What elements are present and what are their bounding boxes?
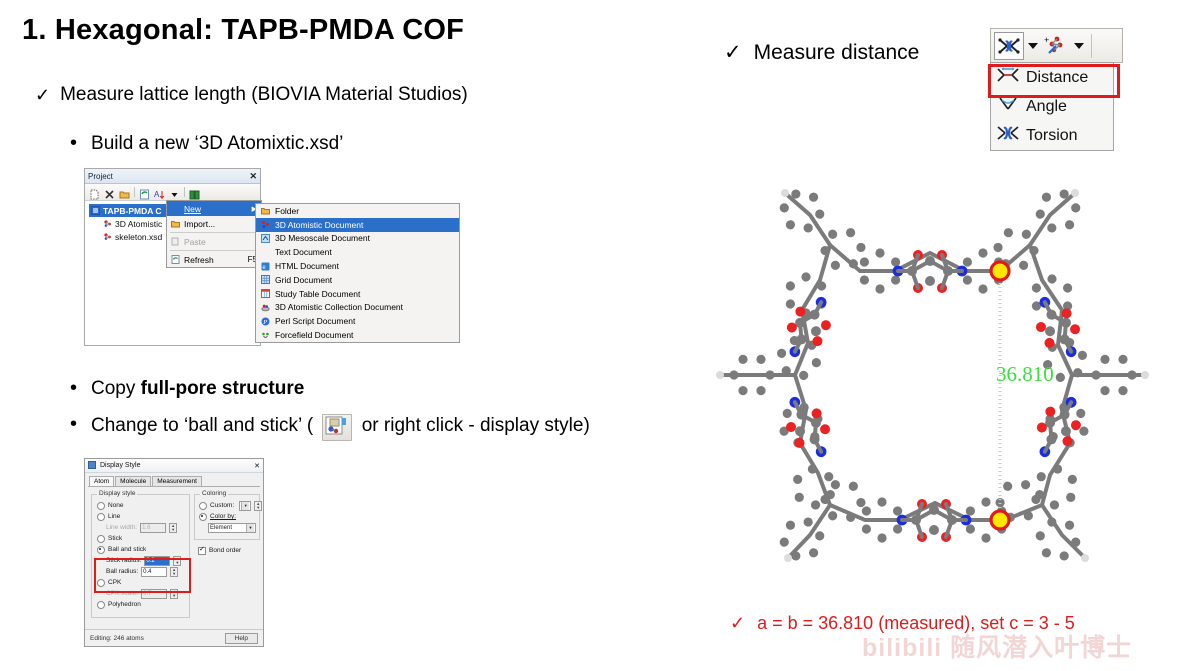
submenu-item-study-table-document[interactable]: Study Table Document: [256, 287, 459, 301]
forcefield-doc-icon: [261, 331, 270, 340]
display-style-group: Display style None Line Line width: 1.6 …: [91, 494, 190, 618]
measure-dropdown-caret-icon[interactable]: [1026, 33, 1040, 59]
check-icon: ✓: [724, 40, 742, 65]
pmda-core-lower-right: [1026, 389, 1092, 466]
radio-icon: [97, 601, 105, 609]
add-atoms-tool-icon[interactable]: +: [1042, 33, 1070, 59]
measurement-value-label: 36.810: [996, 362, 1054, 387]
ball-and-stick-highlight-box: [94, 558, 191, 593]
checkbox-icon: [198, 547, 206, 555]
submenu-item-3d-atomistic-document-label: 3D Atomistic Document: [275, 220, 363, 230]
bullet-measure-distance: ✓ Measure distance: [724, 40, 919, 65]
submenu-item-folder-label: Folder: [275, 206, 299, 216]
html-doc-icon: e: [261, 262, 270, 271]
cof-hexagonal-ring: [716, 181, 1149, 570]
line-width-stepper: ▲▼: [169, 523, 177, 533]
context-menu-item-new[interactable]: New ▶: [167, 201, 261, 216]
display-style-glyph: [323, 415, 349, 438]
radio-icon: [97, 513, 105, 521]
radio-icon: [97, 535, 105, 543]
submenu-item-study-table-document-label: Study Table Document: [275, 289, 360, 299]
display-style-tabs[interactable]: Atom Molecule Measurement: [85, 473, 263, 486]
refresh-icon: [171, 255, 180, 264]
submenu-item-3d-mesoscale-document-label: 3D Mesoscale Document: [275, 233, 370, 243]
svg-text:A: A: [154, 190, 160, 199]
display-style-toolbar-icon[interactable]: [322, 414, 352, 441]
bullet-change-suffix: or right click - display style): [356, 415, 589, 436]
measure-distance-tool-icon[interactable]: [994, 32, 1024, 60]
coloring-group: Coloring Custom: ▼ ▲▼ Color by: Element …: [194, 494, 260, 540]
display-style-body: Display style None Line Line width: 1.6 …: [88, 486, 260, 635]
submenu-item-text-document-label: Text Document: [275, 247, 332, 257]
context-menu-item-import[interactable]: Import...: [167, 216, 261, 231]
context-menu-item-refresh-label: Refresh: [184, 255, 214, 265]
watermark: bilibili 随风潜入叶博士: [862, 628, 1132, 664]
project-root-icon: [91, 206, 100, 215]
tree-item-root-label: TAPB-PMDA C: [103, 206, 162, 216]
line-width-label: Line width:: [106, 524, 137, 531]
custom-color-combo[interactable]: ▼: [239, 501, 251, 511]
line-width-input: 1.6: [140, 523, 166, 533]
submenu-item-3d-atomistic-collection-document-label: 3D Atomistic Collection Document: [275, 302, 403, 312]
page-title: 1. Hexagonal: TAPB-PMDA COF: [22, 14, 464, 47]
submenu-item-3d-atomistic-collection-document[interactable]: 3D Atomistic Collection Document: [256, 301, 459, 315]
chevron-down-icon: ▼: [246, 524, 254, 532]
submenu-item-3d-atomistic-document[interactable]: 3D Atomistic Document: [256, 218, 459, 232]
radio-line[interactable]: Line: [97, 511, 185, 522]
radio-none[interactable]: None: [97, 500, 185, 511]
menu-divider: [170, 250, 258, 251]
tab-measurement[interactable]: Measurement: [152, 476, 202, 486]
bond-order-label: Bond order: [209, 547, 241, 554]
measure-menu-item-angle-label: Angle: [1026, 98, 1067, 116]
radio-ball-and-stick-label: Ball and stick: [108, 546, 146, 553]
angle-icon: [997, 95, 1019, 118]
coloring-group-caption: Coloring: [200, 490, 228, 497]
custom-color-stepper[interactable]: ▲▼: [254, 501, 262, 511]
display-style-titlebar: Display Style ✕: [85, 459, 263, 473]
radio-polyhedron-label: Polyhedron: [108, 601, 141, 608]
import-icon: [171, 219, 180, 228]
blank-icon: [171, 204, 180, 213]
pmda-core-bottom: [897, 499, 972, 542]
submenu-item-3d-mesoscale-document[interactable]: 3D Mesoscale Document: [256, 232, 459, 246]
bullet-copy-prefix: Copy: [91, 378, 141, 399]
submenu-item-forcefield-document[interactable]: Forcefield Document: [256, 328, 459, 342]
submenu-item-folder[interactable]: Folder: [256, 204, 459, 218]
study-table-icon: [261, 289, 270, 298]
submenu-item-grid-document[interactable]: Grid Document: [256, 273, 459, 287]
svg-text:P: P: [262, 319, 267, 326]
context-menu-item-paste: Paste: [167, 234, 261, 249]
bullet-change-display-style: • Change to ‘ball and stick’ ( or right …: [70, 414, 590, 441]
toolbar-separator: [134, 187, 135, 197]
radio-stick[interactable]: Stick: [97, 533, 185, 544]
project-context-menu[interactable]: New ▶ Import... Paste Refresh F5: [166, 200, 262, 268]
submenu-item-html-document-label: HTML Document: [275, 261, 339, 271]
toolbar-separator: [184, 187, 185, 197]
atomistic-doc-icon: [261, 220, 270, 229]
new-document-submenu[interactable]: Folder 3D Atomistic Document 3D Mesoscal…: [255, 203, 460, 343]
line-width-row: Line width: 1.6 ▲▼: [97, 522, 185, 533]
display-style-dialog: Display Style ✕ Atom Molecule Measuremen…: [84, 458, 264, 647]
close-icon[interactable]: ✕: [254, 462, 260, 470]
color-by-combo[interactable]: Element ▼: [208, 523, 256, 533]
menu-divider: [170, 232, 258, 233]
radio-polyhedron[interactable]: Polyhedron: [97, 599, 185, 610]
grid-doc-icon: [261, 275, 270, 284]
context-menu-item-refresh[interactable]: Refresh F5: [167, 252, 261, 267]
custom-label: Custom:: [210, 502, 234, 509]
submenu-item-html-document[interactable]: e HTML Document: [256, 259, 459, 273]
torsion-icon: [997, 124, 1019, 147]
pmda-core-top: [893, 250, 968, 293]
refresh-icon[interactable]: [139, 187, 150, 198]
paste-icon: [171, 237, 180, 246]
radio-none-label: None: [108, 502, 124, 509]
delete-icon[interactable]: [104, 187, 115, 198]
display-style-group-caption: Display style: [97, 490, 137, 497]
radio-line-label: Line: [108, 513, 120, 520]
blank-icon: [261, 248, 270, 257]
bullet-copy-bold: full-pore structure: [141, 378, 305, 399]
tree-item-skeleton-label: skeleton.xsd: [115, 232, 162, 242]
toolbar-separator: [1091, 34, 1092, 58]
color-by-value: Element: [210, 525, 246, 531]
check-icon: ✓: [35, 84, 50, 104]
submenu-item-perl-script-document[interactable]: P Perl Script Document: [256, 314, 459, 328]
project-window-title: Project: [88, 172, 249, 181]
radio-icon: [199, 502, 207, 510]
tab-atom[interactable]: Atom: [89, 476, 114, 486]
tree-item-atomistic-label: 3D Atomistic: [115, 219, 162, 229]
display-style-footer: Editing: 246 atoms Help: [85, 629, 263, 646]
close-icon[interactable]: ✕: [249, 172, 257, 181]
sort-icon[interactable]: A: [154, 187, 165, 198]
radio-icon: [199, 513, 207, 521]
selected-atom-bottom[interactable]: [991, 511, 1009, 529]
submenu-item-forcefield-document-label: Forcefield Document: [275, 330, 353, 340]
bullet-build-new-label: Build a new ‘3D Atomixtic.xsd’: [91, 133, 343, 155]
bond-order-row[interactable]: Bond order: [198, 545, 241, 556]
new-doc-icon[interactable]: [89, 187, 100, 198]
color-by-label: Color by:: [210, 513, 236, 520]
measure-toolbar[interactable]: +: [990, 28, 1123, 63]
submenu-item-text-document[interactable]: Text Document: [256, 245, 459, 259]
svg-text:+: +: [1044, 35, 1049, 45]
radio-custom[interactable]: Custom: ▼ ▲▼: [199, 500, 256, 511]
help-button[interactable]: Help: [225, 633, 258, 644]
color-by-row[interactable]: Element ▼: [199, 522, 256, 533]
atomistic-doc-icon: [103, 232, 112, 241]
context-menu-item-paste-label: Paste: [184, 237, 206, 247]
bullet-dot-icon: •: [70, 133, 77, 153]
display-style-title: Display Style: [100, 462, 251, 469]
cof-structure-svg: .bond{stroke:#7b7b7b;stroke-width:4;stro…: [690, 175, 1190, 575]
bullet-dot-icon: •: [70, 378, 77, 398]
bullet-build-new: • Build a new ‘3D Atomixtic.xsd’: [70, 133, 343, 155]
radio-icon: [97, 546, 105, 554]
folder-icon[interactable]: [119, 187, 130, 198]
bullet-measure-lattice: ✓ Measure lattice length (BIOVIA Materia…: [35, 84, 468, 106]
dropdown-caret-icon[interactable]: [169, 187, 180, 198]
context-menu-item-new-label: New: [184, 204, 201, 214]
molecule-viewer[interactable]: .bond{stroke:#7b7b7b;stroke-width:4;stro…: [690, 175, 1190, 575]
distance-highlight-box: [988, 64, 1120, 98]
measure-distance-label: Measure distance: [754, 41, 920, 65]
tab-molecule[interactable]: Molecule: [115, 476, 151, 486]
add-atoms-dropdown-caret-icon[interactable]: [1072, 33, 1086, 59]
folder-icon: [261, 206, 270, 215]
check-icon: ✓: [730, 613, 745, 634]
atomistic-doc-icon: [103, 219, 112, 228]
bullet-dot-icon: •: [70, 414, 77, 434]
radio-ball-and-stick[interactable]: Ball and stick: [97, 544, 185, 555]
bullet-measure-lattice-label: Measure lattice length (BIOVIA Material …: [60, 84, 468, 106]
measure-menu-item-torsion-label: Torsion: [1026, 127, 1078, 145]
display-style-status: Editing: 246 atoms: [90, 635, 144, 642]
submenu-item-perl-script-document-label: Perl Script Document: [275, 316, 355, 326]
book-icon[interactable]: [189, 187, 200, 198]
display-style-window-icon: [88, 461, 97, 470]
radio-stick-label: Stick: [108, 535, 122, 542]
submenu-item-grid-document-label: Grid Document: [275, 275, 332, 285]
measure-menu-item-torsion[interactable]: Torsion: [991, 121, 1113, 150]
selected-atom-top[interactable]: [991, 262, 1009, 280]
radio-color-by[interactable]: Color by:: [199, 511, 256, 522]
bullet-copy-structure: • Copy full-pore structure: [70, 378, 304, 400]
bullet-change-prefix: Change to ‘ball and stick’ (: [91, 415, 318, 436]
project-window-titlebar: Project ✕: [85, 169, 260, 184]
project-window-toolbar: A: [85, 184, 260, 201]
perl-script-icon: P: [261, 317, 270, 326]
radio-icon: [97, 502, 105, 510]
mesoscale-doc-icon: [261, 234, 270, 243]
collection-doc-icon: [261, 303, 270, 312]
context-menu-item-import-label: Import...: [184, 219, 215, 229]
